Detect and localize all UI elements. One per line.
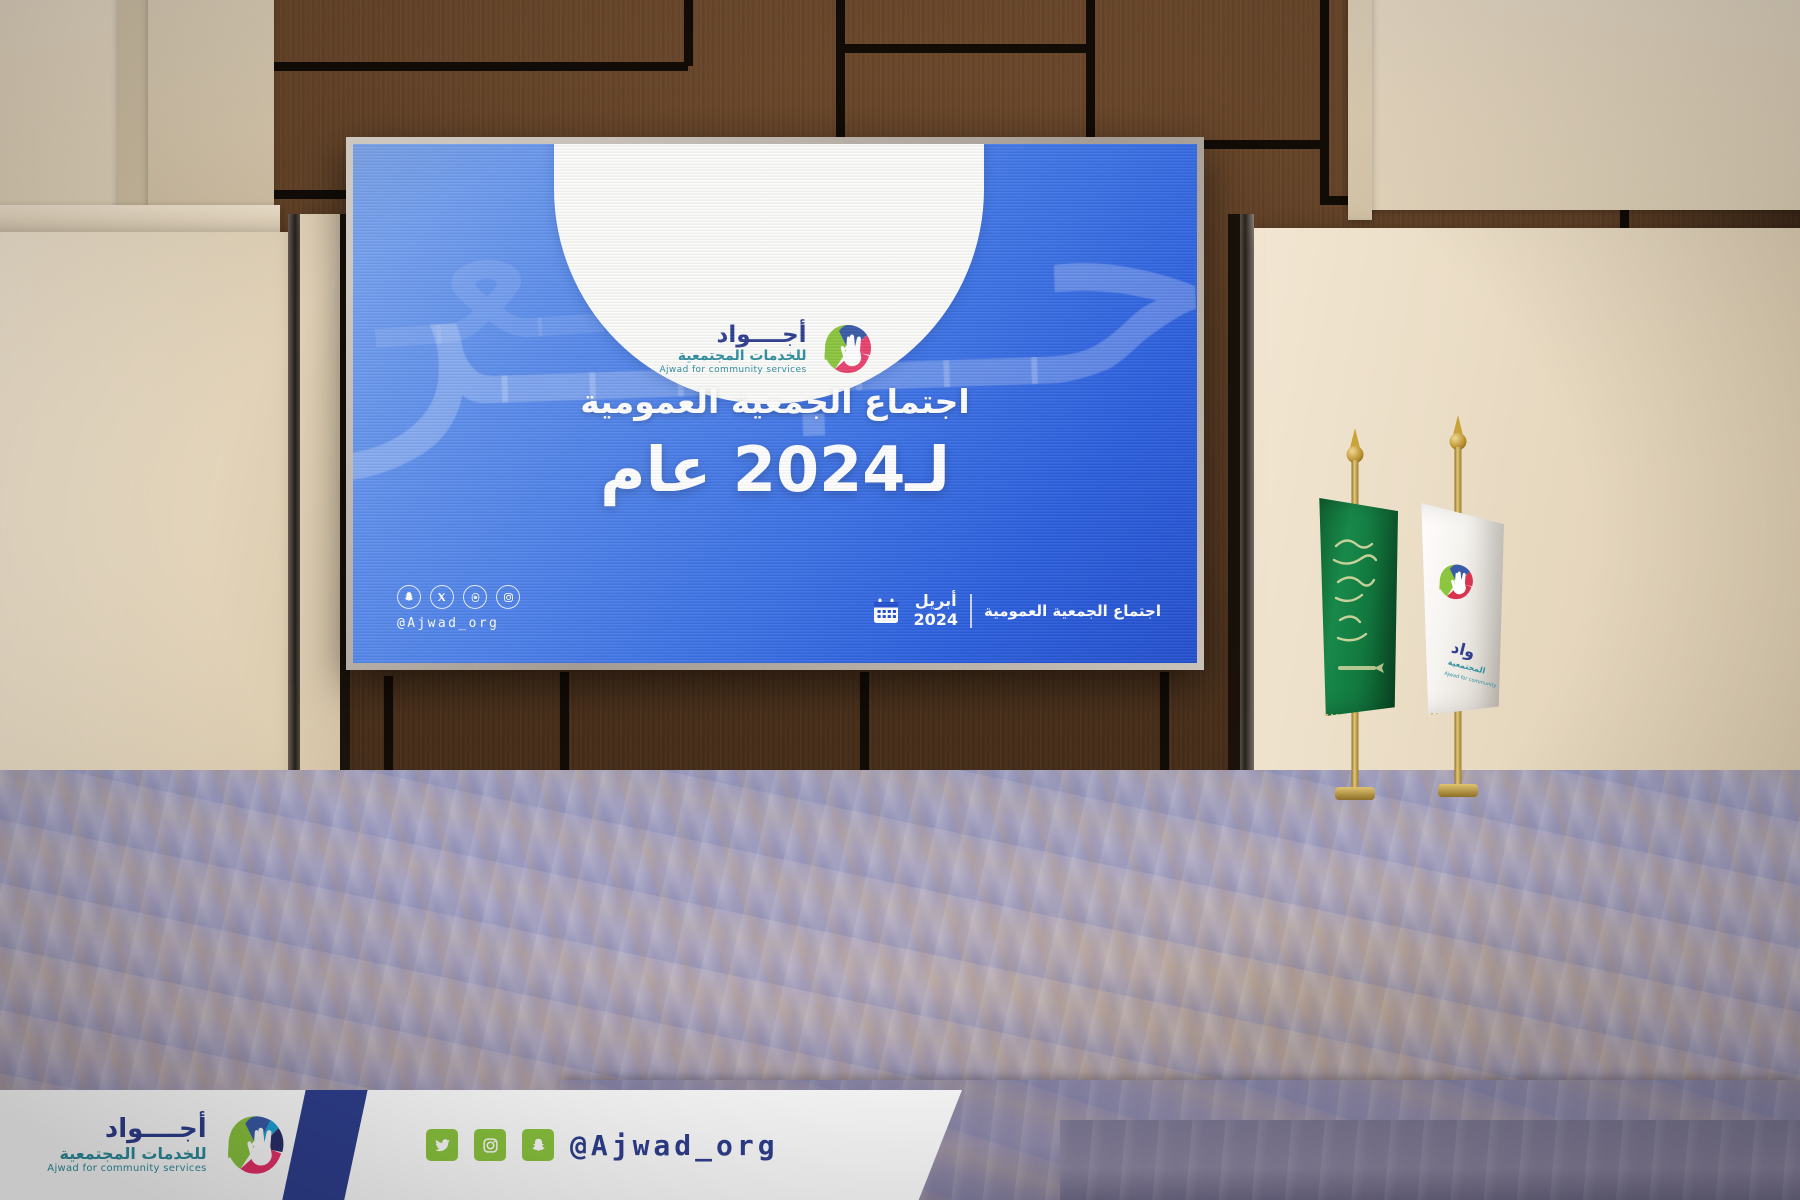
slide-logo-arabic-name: أجــــواد: [659, 323, 806, 347]
wall-seam: [264, 62, 688, 71]
calendar-icon: [871, 596, 901, 626]
flag-finial: [1350, 428, 1360, 448]
carpet-step: [1060, 1120, 1800, 1200]
slide-logo-text: أجــــواد للخدمات المجتمعية Ajwad for co…: [659, 323, 806, 375]
slide-headline-line2: لـ2024 عام: [425, 433, 1125, 506]
wall-panel: [118, 0, 148, 230]
wall-shadow-gap: [1228, 214, 1240, 792]
saudi-flag-cloth: [1316, 498, 1398, 716]
slide-headline-line1: اجتماع الجمعية العمومية: [425, 382, 1125, 421]
wall-panel: [1348, 0, 1372, 220]
watermark-handle[interactable]: @Ajwad_org: [570, 1129, 779, 1162]
bottom-watermark-bar: أجــــواد للخدمات المجتمعية Ajwad for co…: [0, 1090, 962, 1200]
wall-panel: [148, 0, 274, 222]
stage-board-left-inner: [300, 214, 340, 792]
presentation-slide[interactable]: حــبـــر ـعـ أجــــواد للخدمات المجتمعية…: [353, 144, 1197, 663]
ajwad-organization-flag: واد المجتمعية Ajwad for community: [1398, 415, 1518, 795]
watermark-logo-text: أجــــواد للخدمات المجتمعية Ajwad for co…: [47, 1115, 206, 1174]
ajwad-flag-cloth: واد المجتمعية Ajwad for community: [1416, 503, 1504, 715]
conference-hall-scene: حــبـــر ـعـ أجــــواد للخدمات المجتمعية…: [0, 0, 1800, 1200]
wall-panel: [1348, 0, 1800, 210]
slide-header-arc: أجــــواد للخدمات المجتمعية Ajwad for co…: [554, 144, 984, 404]
threads-icon[interactable]: [463, 585, 487, 609]
stage-board-edge: [1238, 214, 1254, 792]
watermark-social-block: @Ajwad_org: [374, 1129, 962, 1162]
slide-footer-divider: [970, 594, 972, 628]
slide-footer-month: أبريل: [913, 592, 958, 610]
wall-seam: [836, 0, 845, 150]
slide-social-handle[interactable]: @Ajwad_org: [397, 616, 520, 631]
watermark-logo-arabic-name: أجــــواد: [47, 1115, 206, 1143]
slide-footer-title: اجتماع الجمعية العمومية: [984, 602, 1161, 620]
slide-social-icons: [397, 585, 520, 609]
ajwad-hands-roundel-icon: [219, 1110, 293, 1180]
snapchat-icon[interactable]: [522, 1129, 554, 1161]
twitter-icon[interactable]: [426, 1129, 458, 1161]
stage-board-left: [0, 232, 300, 792]
slide-logo-english-tagline: Ajwad for community services: [659, 366, 806, 375]
watermark-logo: أجــــواد للخدمات المجتمعية Ajwad for co…: [0, 1110, 300, 1180]
watermark-logo-arabic-tagline: للخدمات المجتمعية: [47, 1145, 206, 1162]
wall-panel: [0, 205, 280, 235]
slide-social-block: @Ajwad_org: [397, 585, 520, 631]
slide-footer-date-block: اجتماع الجمعية العمومية أبريل 2024: [871, 592, 1161, 629]
saudi-arabia-flag: [1300, 428, 1410, 798]
wall-seam: [836, 44, 1086, 53]
slide-footer-year: 2024: [913, 611, 958, 629]
instagram-icon[interactable]: [496, 585, 520, 609]
wall-seam: [1320, 0, 1329, 196]
snapchat-icon[interactable]: [397, 585, 421, 609]
wall-seam: [684, 0, 693, 66]
ajwad-hands-roundel-icon: [817, 320, 879, 378]
x-icon[interactable]: [430, 585, 454, 609]
svg-text:Ajwad for community: Ajwad for community: [1444, 671, 1497, 690]
instagram-icon[interactable]: [474, 1129, 506, 1161]
slide-logo-arabic-tagline: للخدمات المجتمعية: [659, 349, 806, 364]
flag-finial: [1453, 415, 1463, 435]
led-screen-bezel: حــبـــر ـعـ أجــــواد للخدمات المجتمعية…: [346, 137, 1204, 670]
watermark-logo-english-tagline: Ajwad for community services: [47, 1164, 206, 1175]
slide-footer-date: أبريل 2024: [913, 592, 958, 629]
flag-base: [1438, 784, 1478, 797]
slide-headline: اجتماع الجمعية العمومية لـ2024 عام: [425, 382, 1125, 506]
flag-base: [1335, 787, 1375, 800]
